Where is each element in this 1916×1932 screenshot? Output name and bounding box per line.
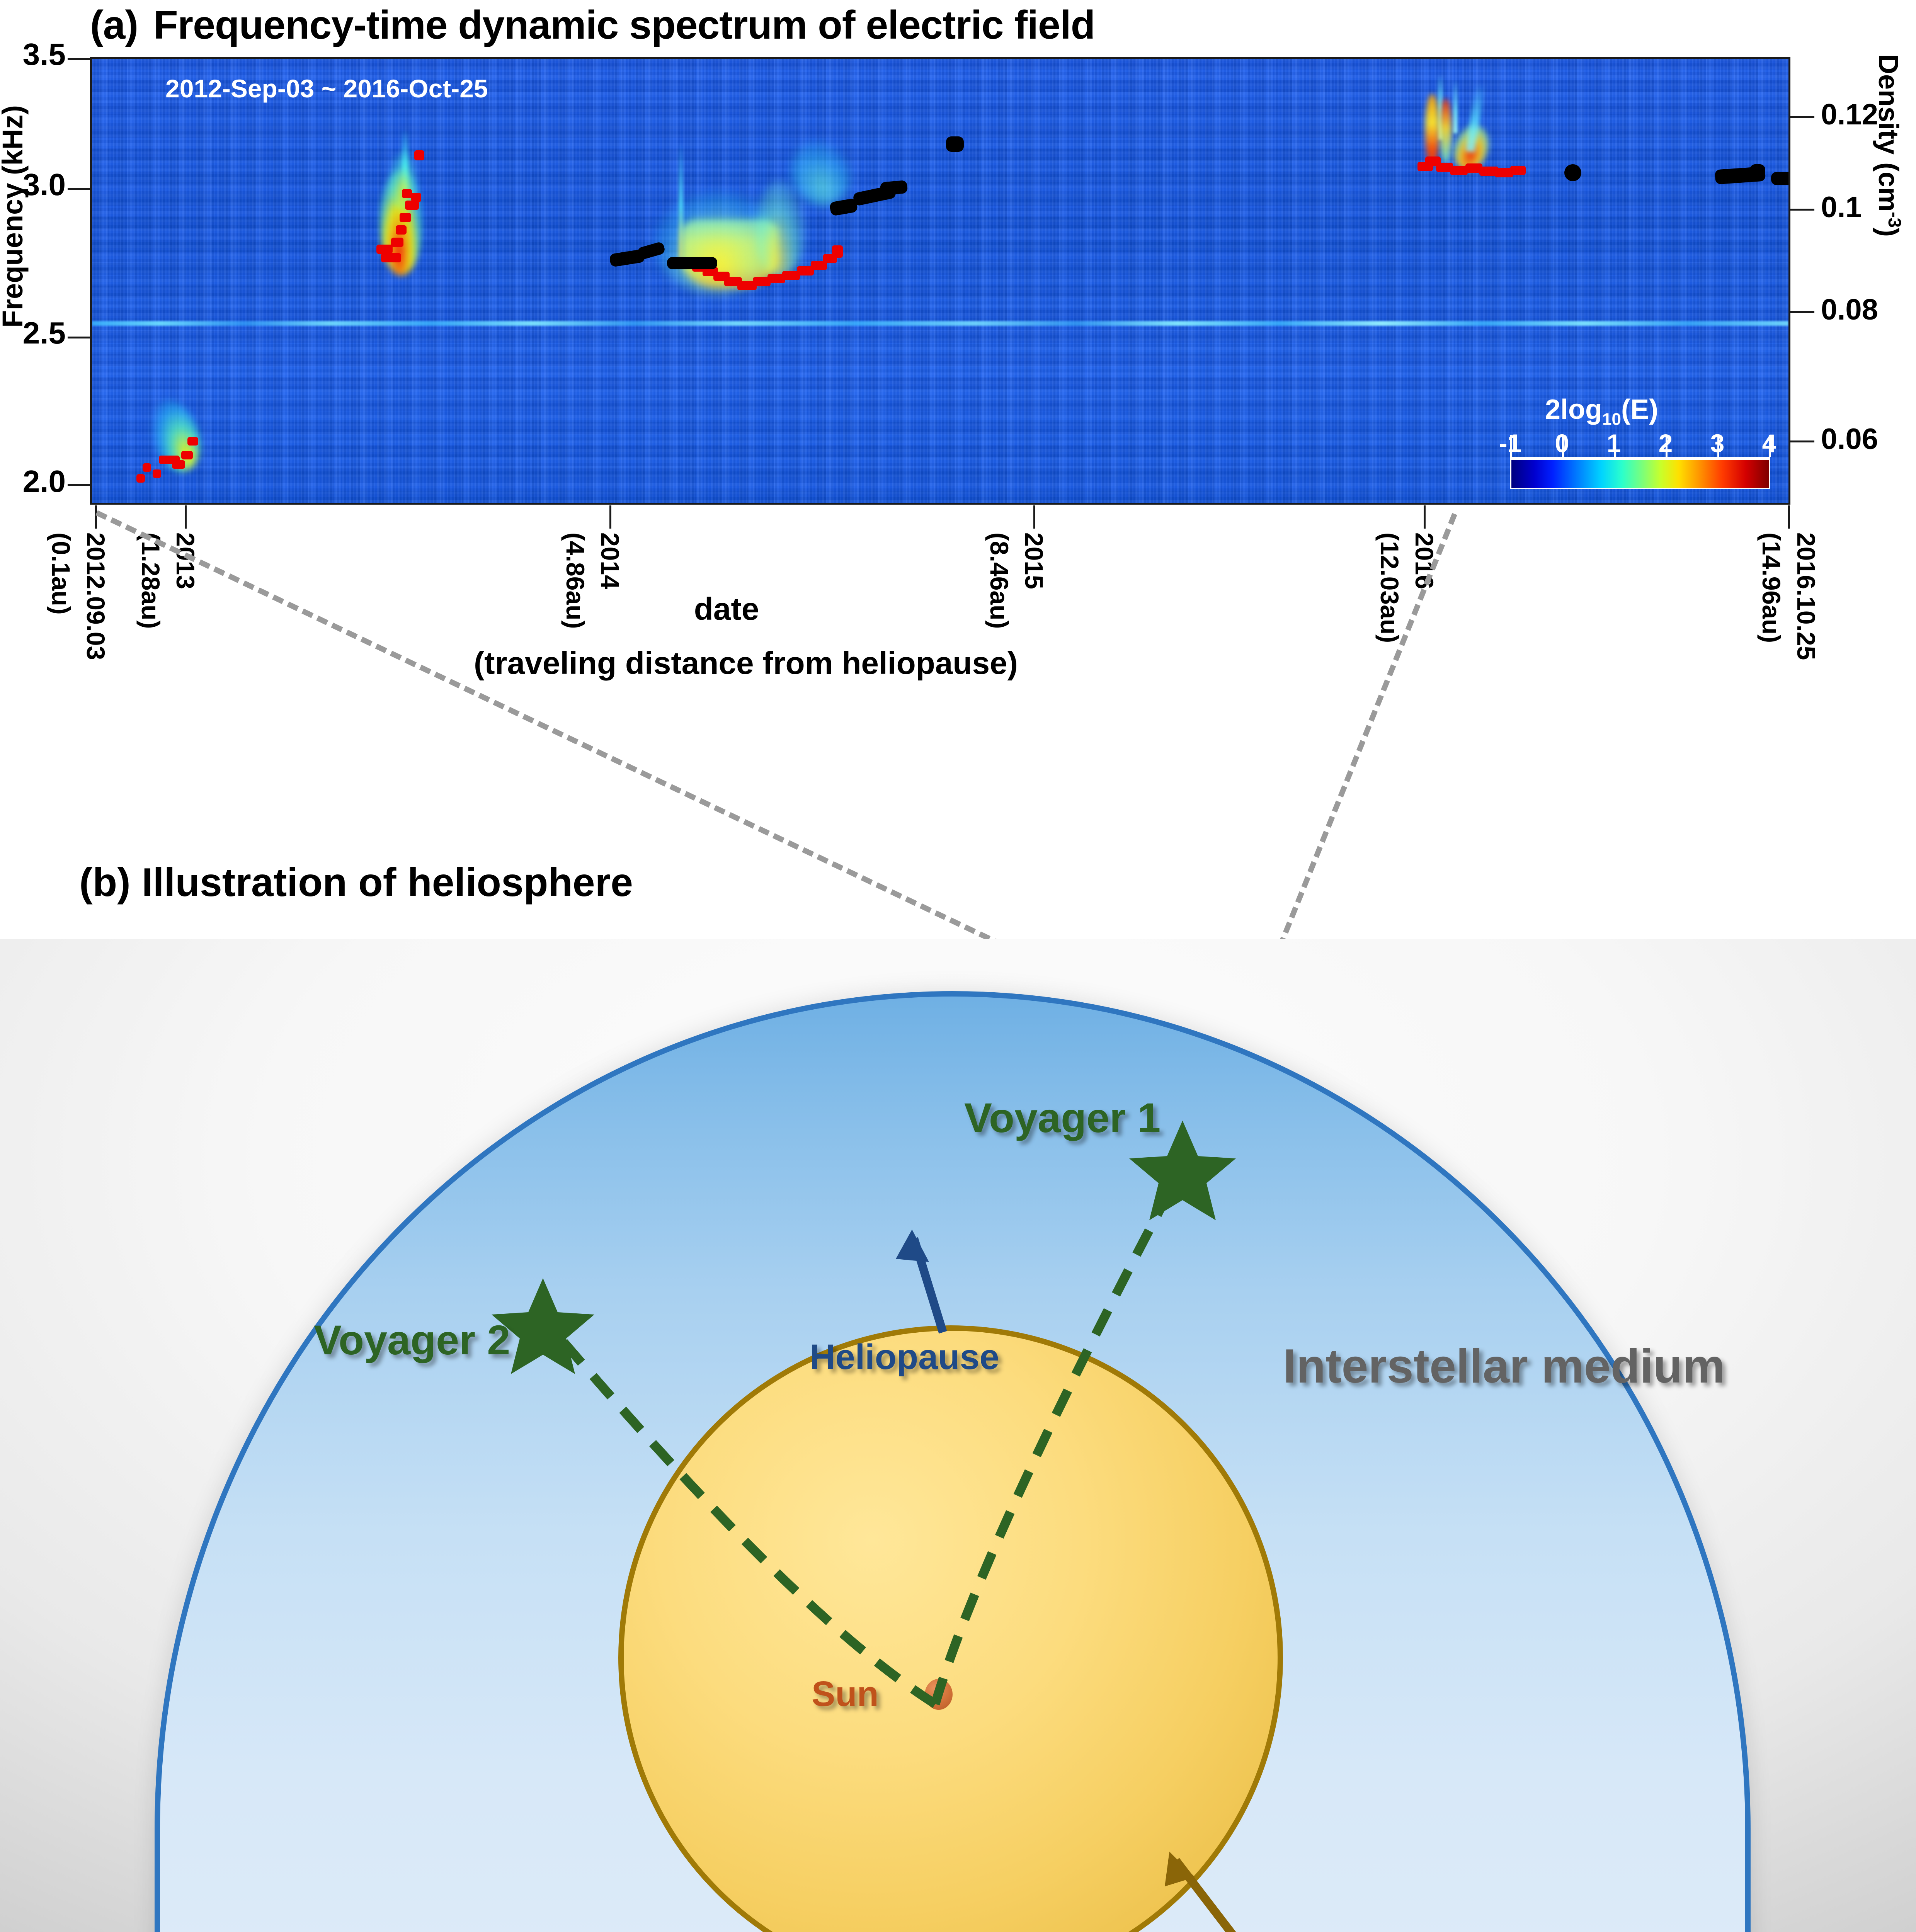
colorbar-title-sub: 10 [1602, 410, 1621, 429]
panel-a-label: (a) [90, 3, 138, 48]
panel-b-heliosphere-illustration: (b) Illustration of heliosphere [0, 860, 1916, 1932]
density-marker-red [414, 150, 424, 160]
spectrogram-plot-area: 2log10(E) -1 0 1 2 3 4 [90, 57, 1790, 505]
right-tick-mark [1790, 116, 1814, 118]
density-marker-red [832, 245, 843, 258]
y-tick-mark [68, 188, 92, 190]
colorbar-tick-mark [1510, 435, 1512, 457]
density-marker-black [1771, 172, 1790, 185]
density-marker-red [187, 437, 198, 446]
emission-core [1440, 99, 1451, 164]
right-axis-label-sup: -3 [1885, 212, 1905, 228]
colorbar-tick-mark [1717, 435, 1719, 457]
density-marker-red [411, 193, 421, 202]
x-axis-subtitle: (traveling distance from heliopause) [417, 645, 1074, 682]
density-marker-red [143, 463, 151, 472]
panel-b-title: (b) Illustration of heliosphere [79, 860, 633, 906]
narrowband-2.4kHz-line [92, 321, 1788, 326]
emission-event-2015-2016 [1379, 71, 1557, 225]
density-marker-red [153, 469, 161, 478]
emission-event-2012 [129, 395, 221, 496]
voyager2-label: Voyager 2 [314, 1316, 510, 1364]
density-marker-black [946, 136, 964, 152]
x-tick-sublabel-1.28au: (1.28au) [136, 532, 165, 629]
y-tick-mark [68, 58, 92, 60]
right-tick-mark [1790, 209, 1814, 211]
x-tick-mark [95, 505, 97, 529]
y-tick-label-2.5: 2.5 [0, 315, 66, 351]
emission-event-2014 [583, 121, 900, 337]
right-axis-label: Density (cm-3) [1872, 54, 1905, 237]
density-marker-red [136, 474, 145, 483]
x-tick-sublabel-14.96au: (14.96au) [1757, 532, 1786, 643]
colorbar-title: 2log10(E) [1545, 394, 1658, 429]
density-marker-red [400, 213, 411, 222]
x-tick-mark [185, 505, 187, 529]
figure-root: (a)Frequency-time dynamic spectrum of el… [0, 0, 1916, 1932]
right-tick-label-0.06: 0.06 [1821, 422, 1878, 456]
spectrogram-image: 2log10(E) -1 0 1 2 3 4 [92, 59, 1788, 503]
x-tick-mark [1424, 505, 1426, 529]
y-tick-mark [68, 484, 92, 486]
y-axis-label: Frequency (kHz) [0, 105, 29, 328]
right-tick-label-0.1: 0.1 [1821, 190, 1862, 224]
x-tick-label-2012.09.03: 2012.09.03 [81, 532, 111, 660]
colorbar-tick-mark [1562, 435, 1564, 457]
sun-icon [925, 1679, 953, 1710]
x-tick-sublabel-8.46au: (8.46au) [985, 532, 1014, 629]
sun-label: Sun [812, 1674, 879, 1714]
density-marker-red [376, 245, 393, 254]
voyager1-label: Voyager 1 [964, 1094, 1160, 1142]
density-marker-red [181, 451, 193, 459]
x-tick-sublabel-12.03au: (12.03au) [1375, 532, 1404, 643]
x-axis-title: date [572, 591, 881, 628]
right-axis-label-tail: ) [1873, 228, 1904, 237]
x-tick-sublabel-0.1au: (0.1au) [46, 532, 76, 615]
density-marker-black [1750, 164, 1765, 177]
panel-a-title-text: Frequency-time dynamic spectrum of elect… [153, 3, 1095, 48]
x-tick-label-2014: 2014 [596, 532, 625, 589]
emission-event-2013 [343, 129, 444, 306]
right-tick-mark [1790, 440, 1814, 442]
y-tick-label-3.5: 3.5 [0, 37, 66, 72]
x-tick-mark [1788, 505, 1790, 529]
x-tick-label-2016.10.25: 2016.10.25 [1792, 532, 1821, 660]
density-marker-black [1564, 164, 1581, 181]
colorbar: 2log10(E) -1 0 1 2 3 4 [1487, 395, 1773, 492]
colorbar-tick-mark [1769, 435, 1771, 457]
density-marker-red [402, 189, 412, 198]
panel-a-dynamic-spectrum: (a)Frequency-time dynamic spectrum of el… [0, 0, 1916, 734]
density-marker-red [396, 225, 407, 235]
x-tick-mark [1033, 505, 1035, 529]
right-axis-label-main: Density (cm [1873, 54, 1904, 212]
emission-vertical-streak [1453, 79, 1458, 133]
x-tick-label-2015: 2015 [1019, 532, 1049, 589]
colorbar-tick-mark [1666, 435, 1668, 457]
colorbar-tick-mark [1614, 435, 1616, 457]
right-tick-mark [1790, 311, 1814, 313]
right-tick-label-0.12: 0.12 [1821, 98, 1878, 131]
colorbar-gradient [1510, 459, 1770, 489]
right-tick-label-0.08: 0.08 [1821, 293, 1878, 327]
heliosphere-scene: Voyager 1 Voyager 2 Heliopause Interstel… [0, 939, 1916, 1932]
density-marker-red [391, 238, 403, 247]
panel-a-title: (a)Frequency-time dynamic spectrum of el… [90, 2, 1095, 48]
density-marker-red [1510, 166, 1526, 175]
x-tick-mark [609, 505, 611, 529]
colorbar-title-tail: (E) [1621, 394, 1658, 425]
interstellar-medium-label: Interstellar medium [1283, 1339, 1725, 1394]
spectrogram-date-range-caption: 2012-Sep-03 ~ 2016-Oct-25 [165, 74, 488, 103]
colorbar-title-main: 2log [1545, 394, 1602, 425]
y-tick-label-2.0: 2.0 [0, 464, 66, 499]
y-tick-mark [68, 337, 92, 338]
density-marker-black [880, 180, 908, 196]
y-tick-label-3.0: 3.0 [0, 167, 66, 202]
heliopause-label: Heliopause [810, 1337, 999, 1378]
density-marker-red [172, 460, 185, 469]
colorbar-tick-labels: -1 0 1 2 3 4 [1487, 429, 1773, 452]
emission-glow [755, 181, 805, 277]
density-marker-red [381, 253, 401, 262]
density-marker-black [667, 257, 717, 269]
